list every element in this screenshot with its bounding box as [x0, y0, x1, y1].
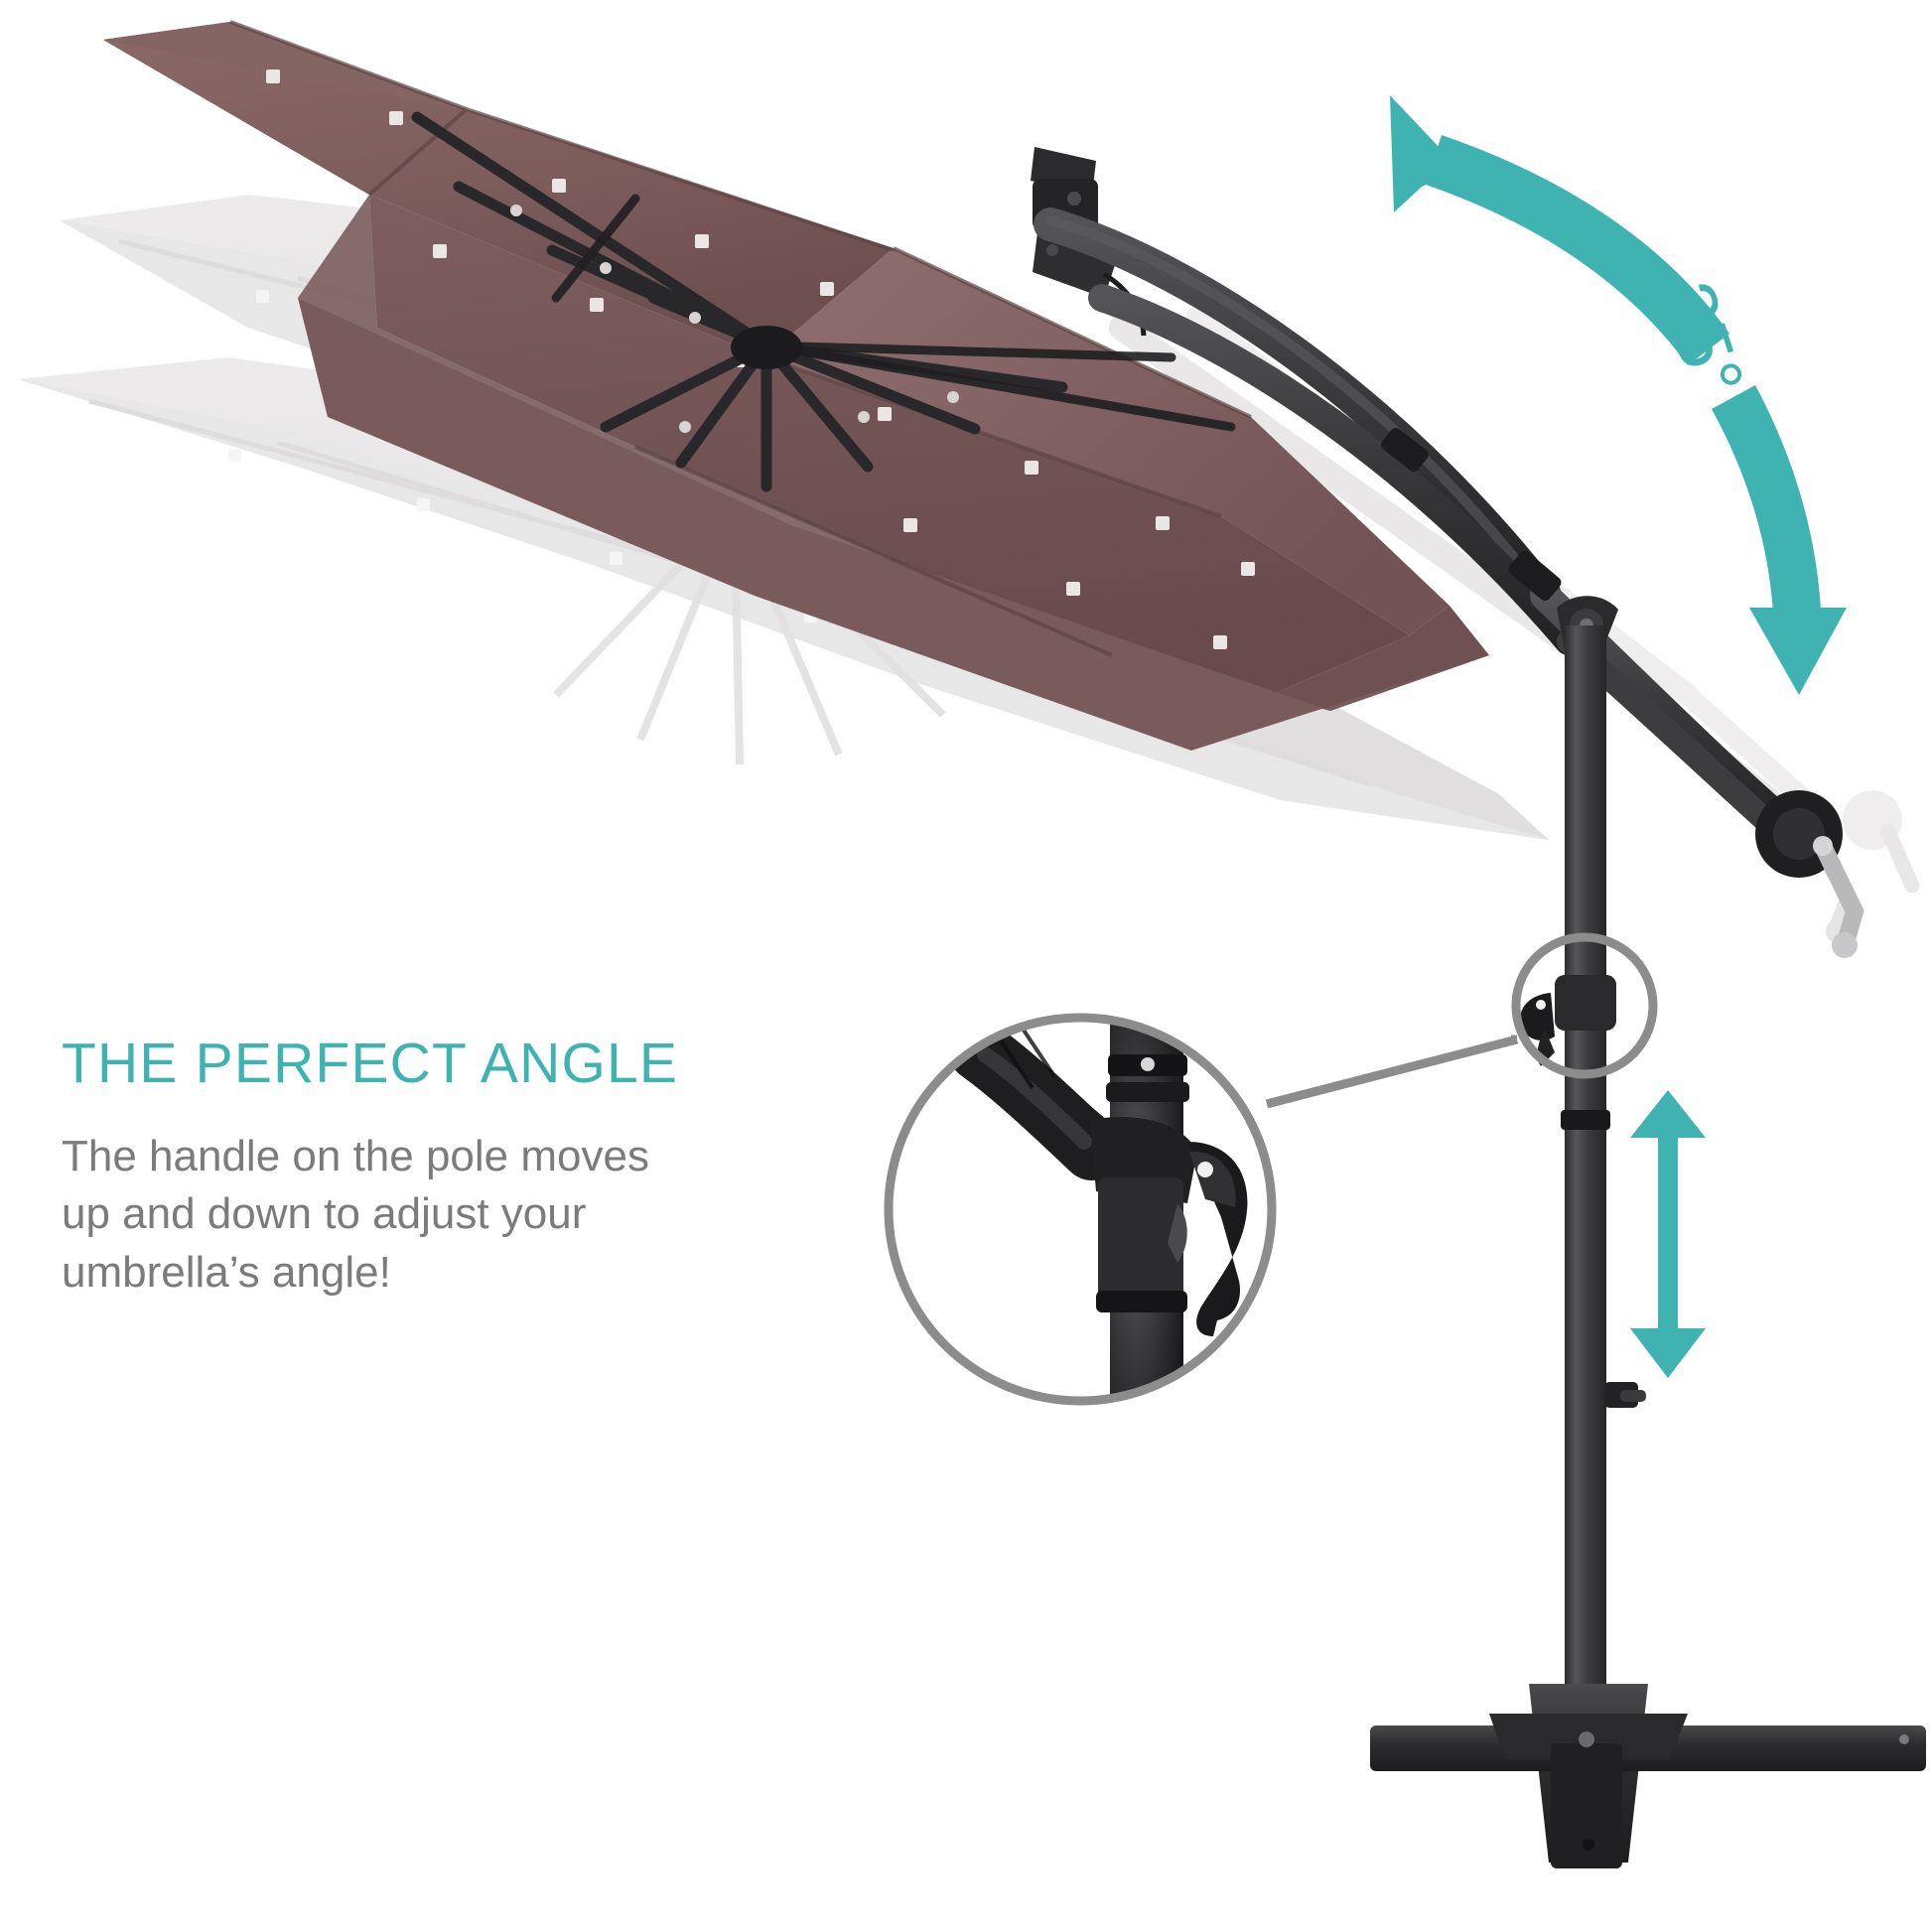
tilt-arc-arrow — [1390, 95, 1847, 695]
height-lock-knob — [1604, 1382, 1646, 1408]
tilt-angle-label: 35° — [1644, 272, 1759, 407]
vertical-pole — [1561, 625, 1646, 1737]
product-illustration: 35° — [0, 0, 1932, 1932]
callout-body-text: The handle on the pole moves up and down… — [62, 1128, 697, 1303]
detail-magnifier-circle — [884, 1003, 1281, 1420]
callout-leader — [1267, 1039, 1517, 1104]
crank-handle — [1755, 790, 1858, 958]
height-double-arrow — [1630, 1090, 1706, 1378]
cross-base — [1370, 1684, 1926, 1868]
page-title: THE PERFECT ANGLE — [62, 1035, 757, 1094]
callout-text-block: THE PERFECT ANGLE The handle on the pole… — [62, 1035, 757, 1302]
infographic-canvas: 35° THE PERFECT ANGLE The handle on the … — [0, 0, 1932, 1932]
